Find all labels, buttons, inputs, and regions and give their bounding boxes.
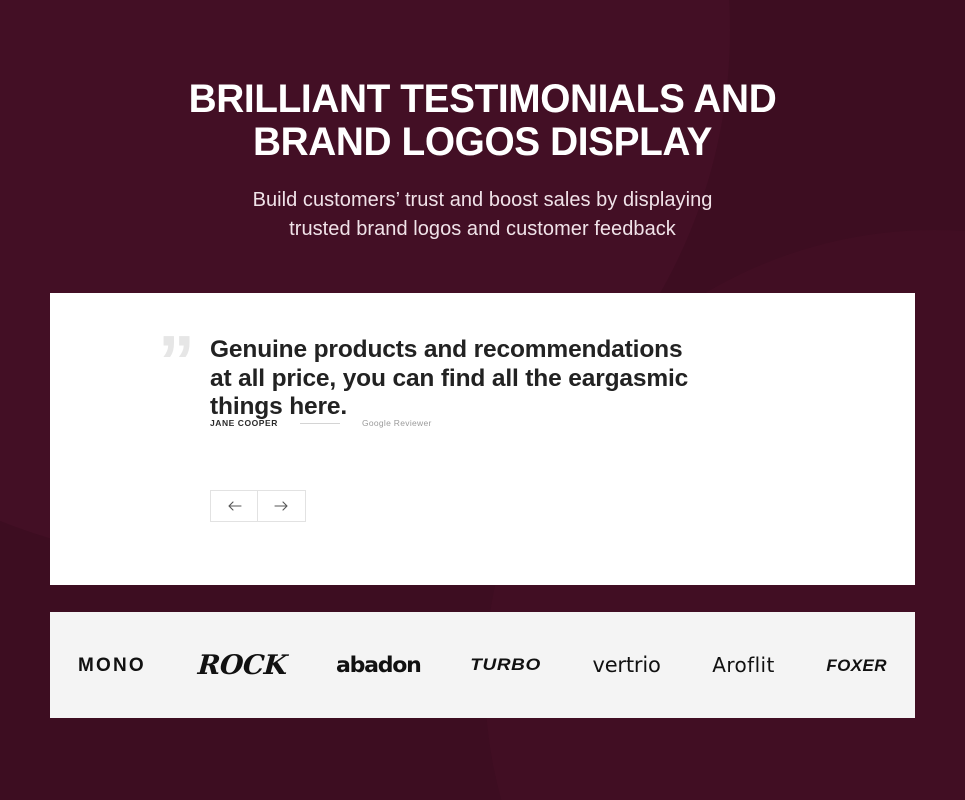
- testimonial-author-name: JANE COOPER: [210, 418, 278, 428]
- hero-section: BRILLIANT TESTIMONIALS AND BRAND LOGOS D…: [0, 0, 965, 244]
- brand-logo-turbo[interactable]: TURBO: [470, 657, 541, 673]
- brand-logo-vertrio[interactable]: vertrio: [592, 655, 660, 676]
- testimonial-quote-line-1: Genuine products and recommendations: [210, 336, 818, 365]
- brand-logo-rock[interactable]: ROCK: [197, 652, 288, 679]
- brand-logo-mono[interactable]: MONO: [78, 656, 146, 675]
- testimonial-author-role: Google Reviewer: [362, 418, 432, 428]
- page-subtitle-line-1: Build customers’ trust and boost sales b…: [0, 186, 965, 215]
- arrow-right-icon: [274, 501, 289, 511]
- brand-logo-foxer[interactable]: FOXER: [826, 657, 887, 674]
- attribution-divider: [300, 423, 340, 424]
- testimonial-card: ” Genuine products and recommendations a…: [50, 293, 915, 585]
- testimonial-quote-line-2: at all price, you can find all the earga…: [210, 365, 818, 394]
- page-subtitle-line-2: trusted brand logos and customer feedbac…: [0, 215, 965, 244]
- page-subtitle: Build customers’ trust and boost sales b…: [0, 164, 965, 244]
- brand-logo-abadon[interactable]: abadon: [336, 655, 421, 676]
- testimonial-prev-button[interactable]: [210, 490, 258, 522]
- page-title-line-2: BRAND LOGOS DISPLAY: [14, 121, 950, 164]
- page-root: BRILLIANT TESTIMONIALS AND BRAND LOGOS D…: [0, 0, 965, 800]
- arrow-left-icon: [227, 501, 242, 511]
- brand-logo-aroflit[interactable]: Aroflit: [712, 655, 775, 675]
- quote-mark-icon: ”: [158, 336, 193, 388]
- testimonial-navigation: [210, 490, 306, 522]
- page-title: BRILLIANT TESTIMONIALS AND BRAND LOGOS D…: [14, 0, 950, 164]
- testimonial-quote-block: ” Genuine products and recommendations a…: [158, 336, 818, 422]
- testimonial-quote-text: Genuine products and recommendations at …: [158, 336, 818, 422]
- page-title-line-1: BRILLIANT TESTIMONIALS AND: [14, 78, 950, 121]
- testimonial-next-button[interactable]: [258, 490, 306, 522]
- brand-logo-strip: MONO ROCK abadon TURBO vertrio Aroflit F…: [50, 612, 915, 718]
- testimonial-attribution: JANE COOPER Google Reviewer: [210, 418, 432, 428]
